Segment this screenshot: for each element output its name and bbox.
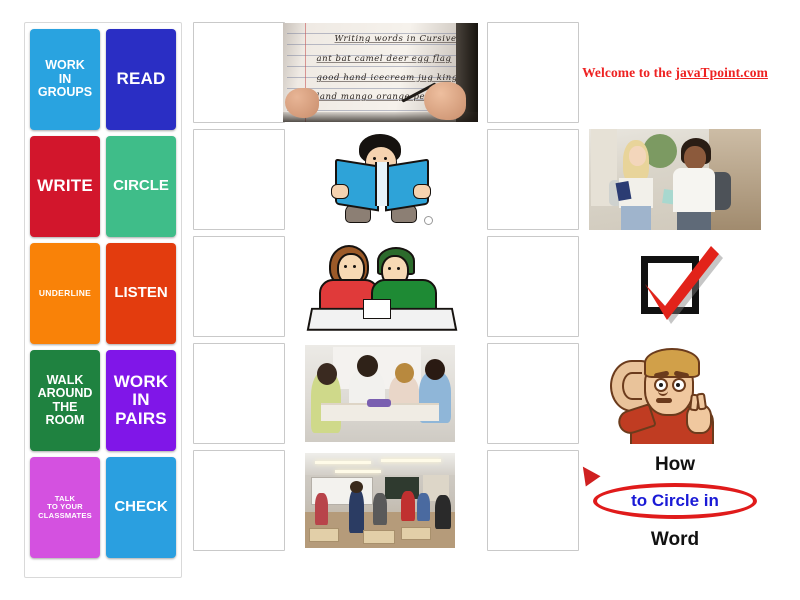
- handwriting-photo-icon: Writing words in Cursive ant bat camel d…: [283, 23, 478, 122]
- image-column-right: Welcome to the javaTpoint.com: [575, 22, 775, 551]
- listening-ear-clipart-icon: [600, 346, 750, 442]
- tile-circle[interactable]: CIRCLE: [106, 136, 176, 237]
- welcome-prefix: Welcome to the: [582, 65, 675, 80]
- tile-row: TALK TO YOUR CLASSMATES CHECK: [30, 457, 176, 558]
- tile-write[interactable]: WRITE: [30, 136, 100, 237]
- tile-row: WALK AROUND THE ROOM WORK IN PAIRS: [30, 350, 176, 451]
- tile-label: READ: [117, 70, 166, 88]
- tile-label: WALK AROUND THE ROOM: [38, 374, 93, 428]
- handwriting-line: ant bat camel deer egg flag: [317, 54, 448, 64]
- drop-zone[interactable]: [193, 22, 285, 123]
- drop-zone[interactable]: [487, 22, 579, 123]
- pair-working-clipart-icon: [305, 241, 455, 333]
- tile-row: WRITE CIRCLE: [30, 136, 176, 237]
- media-cell: Writing words in Cursive ant bat camel d…: [280, 22, 480, 123]
- boy-reading-book-clipart-icon: [325, 132, 435, 227]
- media-cell: [575, 236, 775, 337]
- media-cell: How to Circle in Word: [575, 450, 775, 551]
- drop-zone-column-right: [487, 22, 579, 551]
- classroom-walking-photo-icon: [305, 453, 455, 548]
- students-talking-photo-icon: [589, 129, 761, 230]
- tile-work-in-groups[interactable]: WORK IN GROUPS: [30, 29, 100, 130]
- htc-line-3: Word: [587, 530, 763, 549]
- tile-listen[interactable]: LISTEN: [106, 243, 176, 344]
- tile-check[interactable]: CHECK: [106, 457, 176, 558]
- drop-zone[interactable]: [193, 450, 285, 551]
- tile-label: CIRCLE: [113, 178, 169, 194]
- drop-zone[interactable]: [193, 129, 285, 230]
- tile-label: WORK IN GROUPS: [38, 59, 92, 100]
- tile-label: WRITE: [37, 177, 93, 195]
- htc-line-2: to Circle in: [631, 491, 719, 511]
- drop-zone[interactable]: [487, 450, 579, 551]
- tile-label: WORK IN PAIRS: [114, 373, 169, 428]
- tile-work-in-pairs[interactable]: WORK IN PAIRS: [106, 350, 176, 451]
- tile-row: UNDERLINE LISTEN: [30, 243, 176, 344]
- tile-read[interactable]: READ: [106, 29, 176, 130]
- media-cell: [575, 343, 775, 444]
- welcome-text: Welcome to the javaTpoint.com: [575, 65, 775, 81]
- red-checkmark-box-icon: [627, 244, 723, 330]
- javatpoint-link[interactable]: javaTpoint.com: [675, 65, 768, 80]
- handwriting-line: Writing words in Cursive: [335, 34, 448, 44]
- handwriting-line: good hand icecream jug king: [317, 73, 448, 83]
- tile-label: CHECK: [114, 499, 167, 515]
- media-cell: [575, 129, 775, 230]
- drop-zone[interactable]: [487, 343, 579, 444]
- media-cell: [280, 450, 480, 551]
- tile-talk-to-your-classmates[interactable]: TALK TO YOUR CLASSMATES: [30, 457, 100, 558]
- tile-label: LISTEN: [114, 285, 167, 301]
- image-column-left: Writing words in Cursive ant bat camel d…: [280, 22, 480, 551]
- tile-label: TALK TO YOUR CLASSMATES: [38, 495, 92, 520]
- media-cell: Welcome to the javaTpoint.com: [575, 22, 775, 123]
- drop-zone[interactable]: [193, 236, 285, 337]
- drop-zone[interactable]: [487, 129, 579, 230]
- tile-row: WORK IN GROUPS READ: [30, 29, 176, 130]
- drop-zone[interactable]: [193, 343, 285, 444]
- drop-zone-column-left: [193, 22, 285, 551]
- tile-underline[interactable]: UNDERLINE: [30, 243, 100, 344]
- media-cell: [280, 129, 480, 230]
- drop-zone[interactable]: [487, 236, 579, 337]
- how-to-circle-in-word-graphic-icon: How to Circle in Word: [587, 451, 763, 551]
- group-at-table-photo-icon: [305, 345, 455, 442]
- word-tile-panel: WORK IN GROUPS READ WRITE CIRCLE UNDERLI…: [24, 22, 182, 578]
- media-cell: [280, 343, 480, 444]
- tile-walk-around-the-room[interactable]: WALK AROUND THE ROOM: [30, 350, 100, 451]
- media-cell: [280, 236, 480, 337]
- htc-line-1: How: [587, 455, 763, 474]
- tile-label: UNDERLINE: [39, 289, 91, 298]
